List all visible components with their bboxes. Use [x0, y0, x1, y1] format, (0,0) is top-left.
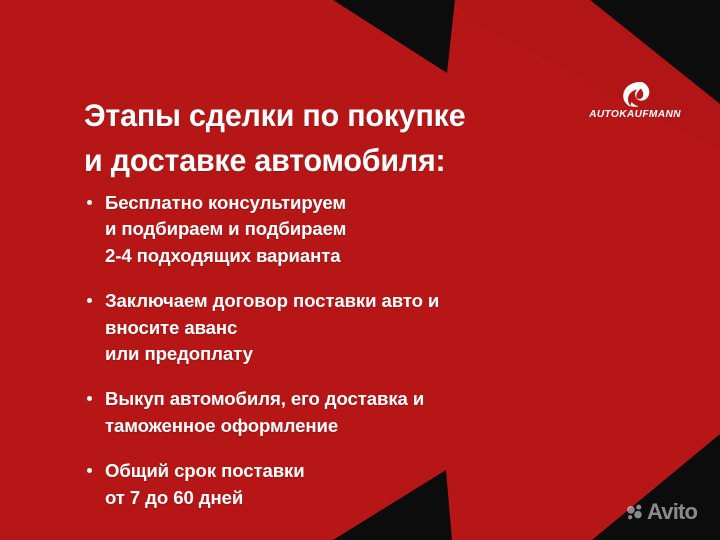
list-item-line: вносите аванс [105, 315, 614, 341]
brand-wordmark: AUTOKAUFMANN [583, 109, 687, 120]
list-item-line: Заключаем договор поставки авто и [105, 288, 614, 314]
page-title-line-2: и доставке автомобиля: [84, 138, 586, 183]
page-title-line-1: Этапы сделки по покупке [84, 93, 586, 138]
brand-logo: AUTOKAUFMANN [583, 80, 687, 120]
list-item-line: Выкуп автомобиля, его доставка и [105, 386, 614, 412]
bullet-dot-icon [87, 396, 92, 401]
list-item: Выкуп автомобиля, его доставка и таможен… [84, 386, 614, 439]
page-title: Этапы сделки по покупке и доставке автом… [84, 93, 586, 182]
avito-watermark: Avito [626, 501, 697, 523]
bullet-dot-icon [87, 298, 92, 303]
promo-poster: Этапы сделки по покупке и доставке автом… [0, 0, 720, 540]
bullet-dot-icon [87, 468, 92, 473]
list-item-line: 2-4 подходящих варианта [105, 243, 614, 269]
list-item: Заключаем договор поставки авто и вносит… [84, 288, 614, 367]
list-item-line: и подбираем и подбираем [105, 216, 614, 242]
autokaufmann-flame-icon [620, 80, 650, 108]
avito-wordmark: Avito [647, 501, 697, 523]
list-item-line: или предоплату [105, 341, 614, 367]
list-item-line: таможенное оформление [105, 413, 614, 439]
bullet-dot-icon [87, 200, 92, 205]
list-item: Бесплатно консультируем и подбираем и по… [84, 190, 614, 269]
list-item-line: от 7 до 60 дней [105, 485, 614, 511]
list-item: Общий срок поставки от 7 до 60 дней [84, 458, 614, 511]
deal-stages-list: Бесплатно консультируем и подбираем и по… [84, 190, 614, 511]
list-item-line: Общий срок поставки [105, 458, 614, 484]
list-item-line: Бесплатно консультируем [105, 190, 614, 216]
avito-dots-icon [626, 503, 644, 521]
